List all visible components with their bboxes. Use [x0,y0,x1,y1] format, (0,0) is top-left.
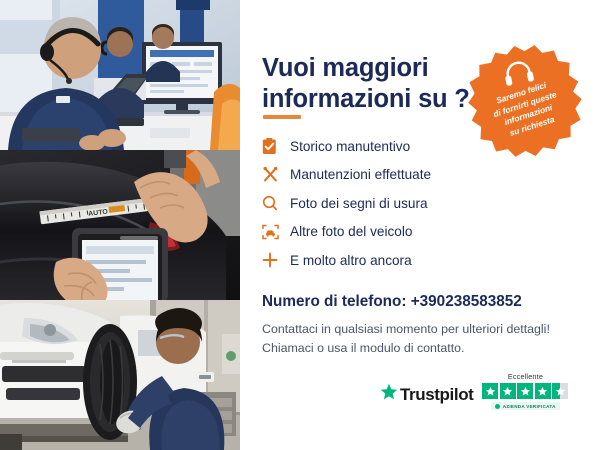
headline-line-2: informazioni su ? [262,84,492,115]
phone-number[interactable]: +390238583852 [411,293,522,310]
trustpilot-star-icon [380,383,398,406]
magnifier-icon [262,193,286,213]
star-icon [482,383,498,399]
checklist-icon [262,136,286,156]
rating-stars [482,383,568,399]
photo-column: AUTO [0,0,240,450]
starburst-badge: Saremo felici di fornirti queste informa… [457,33,593,169]
mechanic-wheel-photo [0,300,240,450]
list-item: Manutenzioni effettuate [262,161,562,190]
contact-copy-line-2: Chiamaci o usa il modulo di contatto. [262,339,582,358]
star-half-icon [552,383,568,399]
feature-label: Storico manutentivo [286,139,410,154]
plus-icon [262,250,286,270]
call-center-photo [0,0,240,150]
starburst-shape [457,33,593,169]
feature-label: Altre foto del veicolo [286,224,412,239]
feature-label: Foto dei segni di usura [286,196,428,211]
verified-badge: AZIENDA VERIFICATA [491,402,559,410]
trustpilot-rating: Eccellente [482,372,568,410]
list-item: Foto dei segni di usura [262,189,562,218]
trustpilot-wordmark: Trustpilot [400,385,473,405]
star-icon [517,383,533,399]
promo-banner: AUTO [0,0,600,450]
rating-label: Eccellente [508,372,543,381]
star-icon [535,383,551,399]
list-item: E molto altro ancora [262,246,562,275]
contact-copy-line-1: Contattaci in qualsiasi momento per ulte… [262,320,582,339]
list-item: Altre foto del veicolo [262,218,562,247]
phone-line: Numero di telefono: +390238583852 [262,293,522,311]
phone-label: Numero di telefono: [262,293,411,310]
car-frame-icon [262,222,286,242]
feature-label: E molto altro ancora [286,253,412,268]
contact-copy: Contattaci in qualsiasi momento per ulte… [262,320,582,357]
feature-label: Manutenzioni effettuate [286,167,431,182]
trustpilot-logo: Trustpilot [380,383,473,406]
star-icon [500,383,516,399]
verified-label: AZIENDA VERIFICATA [503,404,556,409]
wrench-cross-icon [262,165,286,185]
verified-check-icon [495,404,500,409]
heading-divider [263,115,301,119]
trustpilot-widget[interactable]: Trustpilot Eccellente [380,372,590,420]
content-panel: Vuoi maggiori informazioni su ? Storico … [240,0,600,450]
vehicle-inspection-photo: AUTO [0,150,240,300]
